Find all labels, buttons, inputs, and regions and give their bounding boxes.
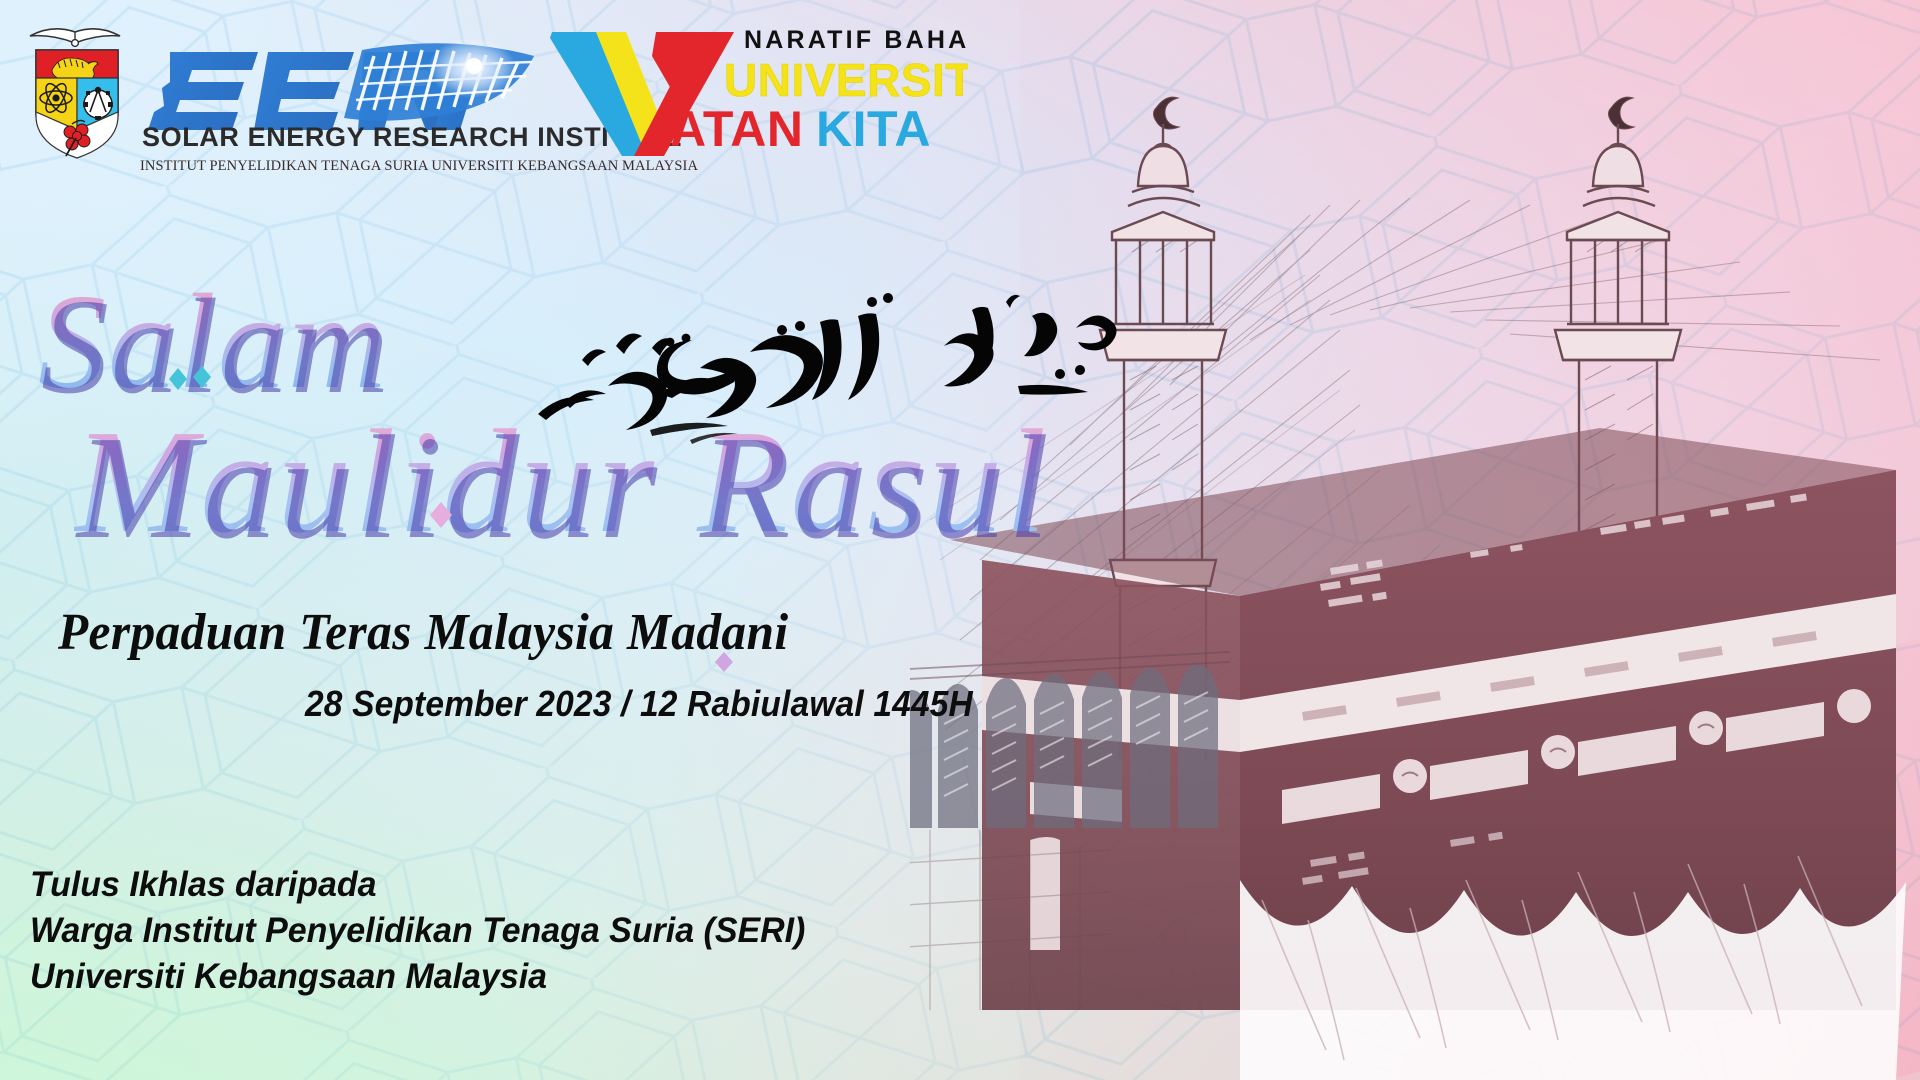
signoff-line-1: Tulus Ikhlas daripada [30,862,903,908]
ukm-tagline-text: NARATIF BAHARU UKM [744,26,968,54]
ukm-line2-red-text: ATAN [670,101,803,157]
greeting-salam: Salam [38,274,388,410]
arabic-calligraphy [520,290,1140,470]
kaaba-cube [950,428,1896,1010]
seri-institute-subtitle: INSTITUT PENYELIDIKAN TENAGA SURIA UNIVE… [140,158,560,175]
solar-panel-icon [344,38,534,121]
ukm-logo[interactable]: NARATIF BAHARU UKM UNIVERSITI ATAN KITA [548,18,968,158]
signoff-line-2: Warga Institut Penyelidikan Tenaga Suria… [30,908,903,954]
poster-tagline: Perpaduan Teras Malaysia Madani [58,603,788,662]
background-wash-bottom-right [1378,638,1920,1080]
poster-date: 28 September 2023 / 12 Rabiulawal 1445H [305,683,973,725]
kiswah-drapery [1240,880,1906,1080]
seri-institute-name: SOLAR ENERGY RESEARCH INSTITUTE [142,122,542,153]
header-logos: SOLAR ENERGY RESEARCH INSTITUTE INSTITUT… [0,0,1000,190]
signoff-block: Tulus Ikhlas daripada Warga Institut Pen… [30,862,930,1000]
poster-canvas: SOLAR ENERGY RESEARCH INSTITUTE INSTITUT… [0,0,1920,1080]
ukm-line1-text: UNIVERSITI [724,54,968,106]
ukm-crest-icon [22,20,132,160]
right-minaret-sketch [1555,97,1681,700]
seri-logo[interactable]: SOLAR ENERGY RESEARCH INSTITUTE INSTITUT… [22,14,542,174]
kaaba-illustration [910,0,1920,1080]
signoff-line-3: Universiti Kebangsaan Malaysia [30,954,903,1000]
ukm-line2-blue-text: KITA [816,101,931,157]
